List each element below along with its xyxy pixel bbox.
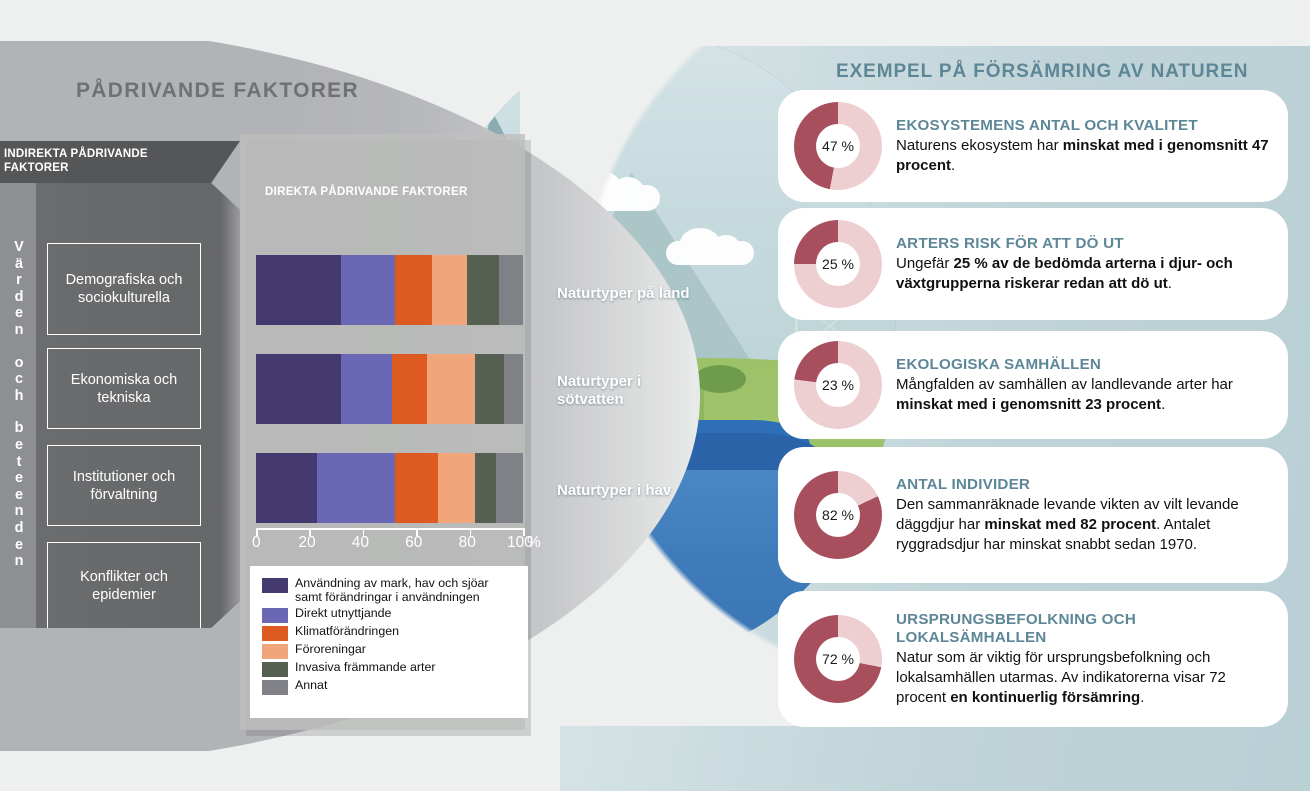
bar-segment	[427, 354, 475, 424]
card-body: Ungefär 25 % av de bedömda arterna i dju…	[896, 254, 1274, 294]
axis-tick-label: 0	[252, 534, 261, 552]
infographic-root: PÅDRIVANDE FAKTORER INDIREKTA PÅDRIVANDE…	[0, 0, 1310, 791]
bar-segment	[504, 354, 523, 424]
donut-chart: 25 %	[794, 220, 882, 308]
factor-box-label: Institutioner och förvaltning	[51, 468, 197, 504]
axis-tick-label: 80	[459, 534, 476, 552]
legend-swatch	[262, 644, 288, 659]
vertical-letter: d	[8, 289, 30, 306]
bar-segment	[475, 453, 496, 523]
indirect-drivers-header-label: INDIREKTA PÅDRIVANDE FAKTORER	[4, 147, 204, 175]
legend-label: Annat	[295, 678, 327, 692]
vertical-letter: e	[8, 470, 30, 487]
card-body: Den sammanräknade levande vikten av vilt…	[896, 495, 1274, 555]
legend-item[interactable]: Klimatförändringen	[262, 624, 518, 641]
legend-item[interactable]: Annat	[262, 678, 518, 695]
legend-label: Klimatförändringen	[295, 624, 399, 638]
vertical-letter: ä	[8, 256, 30, 273]
axis-tick-label: 40	[352, 534, 369, 552]
card-text: EKOLOGISKA SAMHÄLLENMångfalden av samhäl…	[896, 356, 1274, 415]
donut-chart: 47 %	[794, 102, 882, 190]
scene-label-sotvatten: Naturtyper isötvatten	[557, 373, 641, 409]
bar-segment	[395, 255, 432, 325]
vertical-letter: c	[8, 371, 30, 388]
bar-segment	[256, 453, 317, 523]
example-card[interactable]: 25 %ARTERS RISK FÖR ATT DÖ UTUngefär 25 …	[778, 208, 1288, 320]
bar-segment	[432, 255, 467, 325]
legend-item[interactable]: Föroreningar	[262, 642, 518, 659]
card-text: EKOSYSTEMENS ANTAL OCH KVALITETNaturens …	[896, 117, 1274, 176]
factor-box-institutioner[interactable]: Institutioner och förvaltning	[47, 445, 201, 526]
card-heading: EKOLOGISKA SAMHÄLLEN	[896, 356, 1274, 374]
bar-row	[256, 354, 523, 424]
scene-label-hav: Naturtyper i hav	[557, 482, 671, 500]
right-panel-title: EXEMPEL PÅ FÖRSÄMRING AV NATUREN	[836, 61, 1248, 83]
vertical-letter: e	[8, 437, 30, 454]
vertical-letter	[8, 339, 30, 355]
legend-swatch	[262, 626, 288, 641]
factor-box-label: Konflikter och epidemier	[51, 568, 197, 604]
bar-segment	[256, 354, 341, 424]
legend-swatch	[262, 578, 288, 593]
bar-row	[256, 255, 523, 325]
vertical-letter: t	[8, 454, 30, 471]
bar-segment	[475, 354, 504, 424]
vertical-letter: e	[8, 537, 30, 554]
vertical-letter: d	[8, 520, 30, 537]
card-body: Naturens ekosystem har minskat med i gen…	[896, 136, 1274, 176]
vertical-letter	[8, 404, 30, 420]
donut-percent-label: 82 %	[816, 493, 860, 537]
card-heading: URSPRUNGSBEFOLKNING OCH LOKALSÄMHALLEN	[896, 611, 1274, 647]
donut-percent-label: 47 %	[816, 124, 860, 168]
legend-label: Invasiva främmande arter	[295, 660, 435, 674]
legend-item[interactable]: Direkt utnyttjande	[262, 606, 518, 623]
bar-segment	[499, 255, 523, 325]
bar-segment	[392, 354, 427, 424]
bar-segment	[438, 453, 475, 523]
vertical-letter: b	[8, 420, 30, 437]
vertical-letter: n	[8, 322, 30, 339]
axis-line	[256, 528, 523, 530]
donut-percent-label: 23 %	[816, 363, 860, 407]
legend-label: Föroreningar	[295, 642, 366, 656]
factor-box-konflikter[interactable]: Konflikter och epidemier	[47, 542, 201, 630]
vertical-letter: r	[8, 272, 30, 289]
legend-swatch	[262, 680, 288, 695]
axis-unit-label: %	[527, 534, 541, 552]
factor-box-ekonomiska[interactable]: Ekonomiska och tekniska	[47, 348, 201, 429]
legend-item[interactable]: Invasiva främmande arter	[262, 660, 518, 677]
bar-segment	[317, 453, 394, 523]
factor-box-demografiska[interactable]: Demografiska och sociokulturella	[47, 243, 201, 335]
card-text: ANTAL INDIVIDERDen sammanräknade levande…	[896, 476, 1274, 555]
bar-segment	[467, 255, 499, 325]
vertical-letter: e	[8, 487, 30, 504]
bar-segment	[496, 453, 523, 523]
stacked-bar-chart	[256, 255, 523, 523]
card-body: Mångfalden av samhällen av landlevande a…	[896, 375, 1274, 415]
page-title: PÅDRIVANDE FAKTORER	[76, 79, 359, 103]
chart-x-axis-labels: 020406080100%	[240, 534, 540, 556]
legend-swatch	[262, 608, 288, 623]
bar-segment	[256, 255, 341, 325]
card-body: Natur som är viktig för ursprungsbefolkn…	[896, 648, 1274, 708]
card-heading: ANTAL INDIVIDER	[896, 476, 1274, 494]
vertical-letter: o	[8, 355, 30, 372]
indirect-drivers-body: Värdenochbeteenden Demografiska och soci…	[0, 183, 240, 628]
card-text: ARTERS RISK FÖR ATT DÖ UTUngefär 25 % av…	[896, 235, 1274, 294]
vertical-letter: h	[8, 388, 30, 405]
legend-label: Direkt utnyttjande	[295, 606, 391, 620]
donut-percent-label: 72 %	[816, 637, 860, 681]
bar-row	[256, 453, 523, 523]
chart-legend: Användning av mark, hav och sjöar samt f…	[250, 566, 528, 718]
bar-segment	[395, 453, 438, 523]
factor-box-label: Demografiska och sociokulturella	[51, 271, 197, 307]
vertical-letter: n	[8, 503, 30, 520]
card-text: URSPRUNGSBEFOLKNING OCH LOKALSÄMHALLENNa…	[896, 611, 1274, 708]
scene-label-land: Naturtyper på land	[557, 285, 690, 303]
donut-chart: 82 %	[794, 471, 882, 559]
bar-segment	[341, 255, 394, 325]
card-heading: ARTERS RISK FÖR ATT DÖ UT	[896, 235, 1274, 253]
direct-drivers-label: DIREKTA PÅDRIVANDE FAKTORER	[265, 186, 515, 198]
legend-label: Användning av mark, hav och sjöar samt f…	[295, 576, 518, 605]
legend-item[interactable]: Användning av mark, hav och sjöar samt f…	[262, 576, 518, 605]
vertical-letter: n	[8, 553, 30, 570]
example-card[interactable]: 23 %EKOLOGISKA SAMHÄLLENMångfalden av sa…	[778, 331, 1288, 439]
card-heading: EKOSYSTEMENS ANTAL OCH KVALITET	[896, 117, 1274, 135]
top-margin-strip	[560, 0, 1310, 46]
vertical-letter: e	[8, 305, 30, 322]
vertical-letter: V	[8, 239, 30, 256]
example-card[interactable]: 47 %EKOSYSTEMENS ANTAL OCH KVALITETNatur…	[778, 90, 1288, 202]
axis-tick-label: 60	[405, 534, 422, 552]
bar-segment	[341, 354, 392, 424]
axis-tick-label: 20	[298, 534, 315, 552]
donut-chart: 72 %	[794, 615, 882, 703]
example-card[interactable]: 72 %URSPRUNGSBEFOLKNING OCH LOKALSÄMHALL…	[778, 591, 1288, 727]
example-card[interactable]: 82 %ANTAL INDIVIDERDen sammanräknade lev…	[778, 447, 1288, 583]
legend-swatch	[262, 662, 288, 677]
indirect-drivers-block: INDIREKTA PÅDRIVANDE FAKTORER Värdenochb…	[0, 141, 240, 628]
vertical-label-varden-och-beteenden: Värdenochbeteenden	[8, 239, 30, 570]
factor-box-label: Ekonomiska och tekniska	[51, 371, 197, 407]
donut-chart: 23 %	[794, 341, 882, 429]
donut-percent-label: 25 %	[816, 242, 860, 286]
indirect-drivers-header: INDIREKTA PÅDRIVANDE FAKTORER	[0, 141, 240, 183]
